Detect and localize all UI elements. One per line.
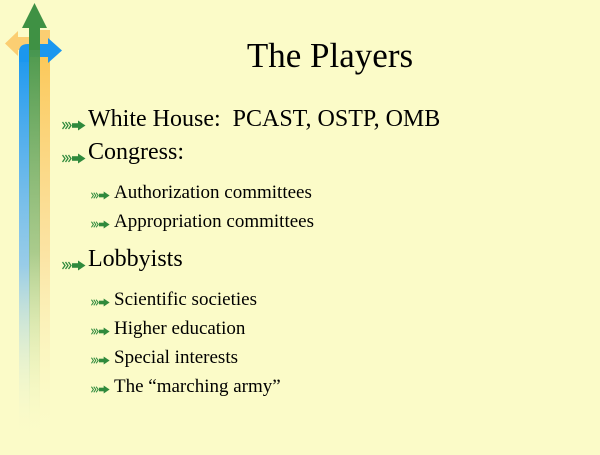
list-item: The “marching army”: [0, 372, 600, 401]
arrow-bullet-icon: [91, 372, 112, 399]
list-item-label: Authorization committees: [114, 178, 312, 207]
list-item: White House: PCAST, OSTP, OMB: [0, 104, 600, 137]
list-item-label: The “marching army”: [114, 372, 281, 401]
list-item: Appropriation committees: [0, 207, 600, 236]
arrow-bullet-icon: [62, 137, 88, 170]
page-title: The Players: [80, 34, 580, 78]
arrow-bullet-icon: [91, 343, 112, 370]
list-item: Authorization committees: [0, 178, 600, 207]
slide-canvas: The Players White House: PCAST, OSTP, OM…: [0, 0, 600, 450]
arrow-bullet-icon: [91, 207, 112, 234]
list-item: Lobbyists: [0, 244, 600, 277]
list-item: Scientific societies: [0, 285, 600, 314]
list-item-label: Scientific societies: [114, 285, 257, 314]
list-item-label: Lobbyists: [88, 244, 183, 275]
list-item-label: Higher education: [114, 314, 245, 343]
list-item: Higher education: [0, 314, 600, 343]
bullet-list: White House: PCAST, OSTP, OMB Congress:: [0, 104, 600, 401]
arrow-bullet-icon: [91, 285, 112, 312]
arrow-bullet-icon: [91, 314, 112, 341]
list-item-label: Special interests: [114, 343, 238, 372]
arrow-bullet-icon: [62, 244, 88, 277]
arrow-bullet-icon: [62, 104, 88, 137]
list-item: Special interests: [0, 343, 600, 372]
list-item: Congress:: [0, 137, 600, 170]
list-item-label: Congress:: [88, 137, 184, 168]
list-item-label: White House: PCAST, OSTP, OMB: [88, 104, 440, 135]
list-item-label: Appropriation committees: [114, 207, 314, 236]
arrow-bullet-icon: [91, 178, 112, 205]
